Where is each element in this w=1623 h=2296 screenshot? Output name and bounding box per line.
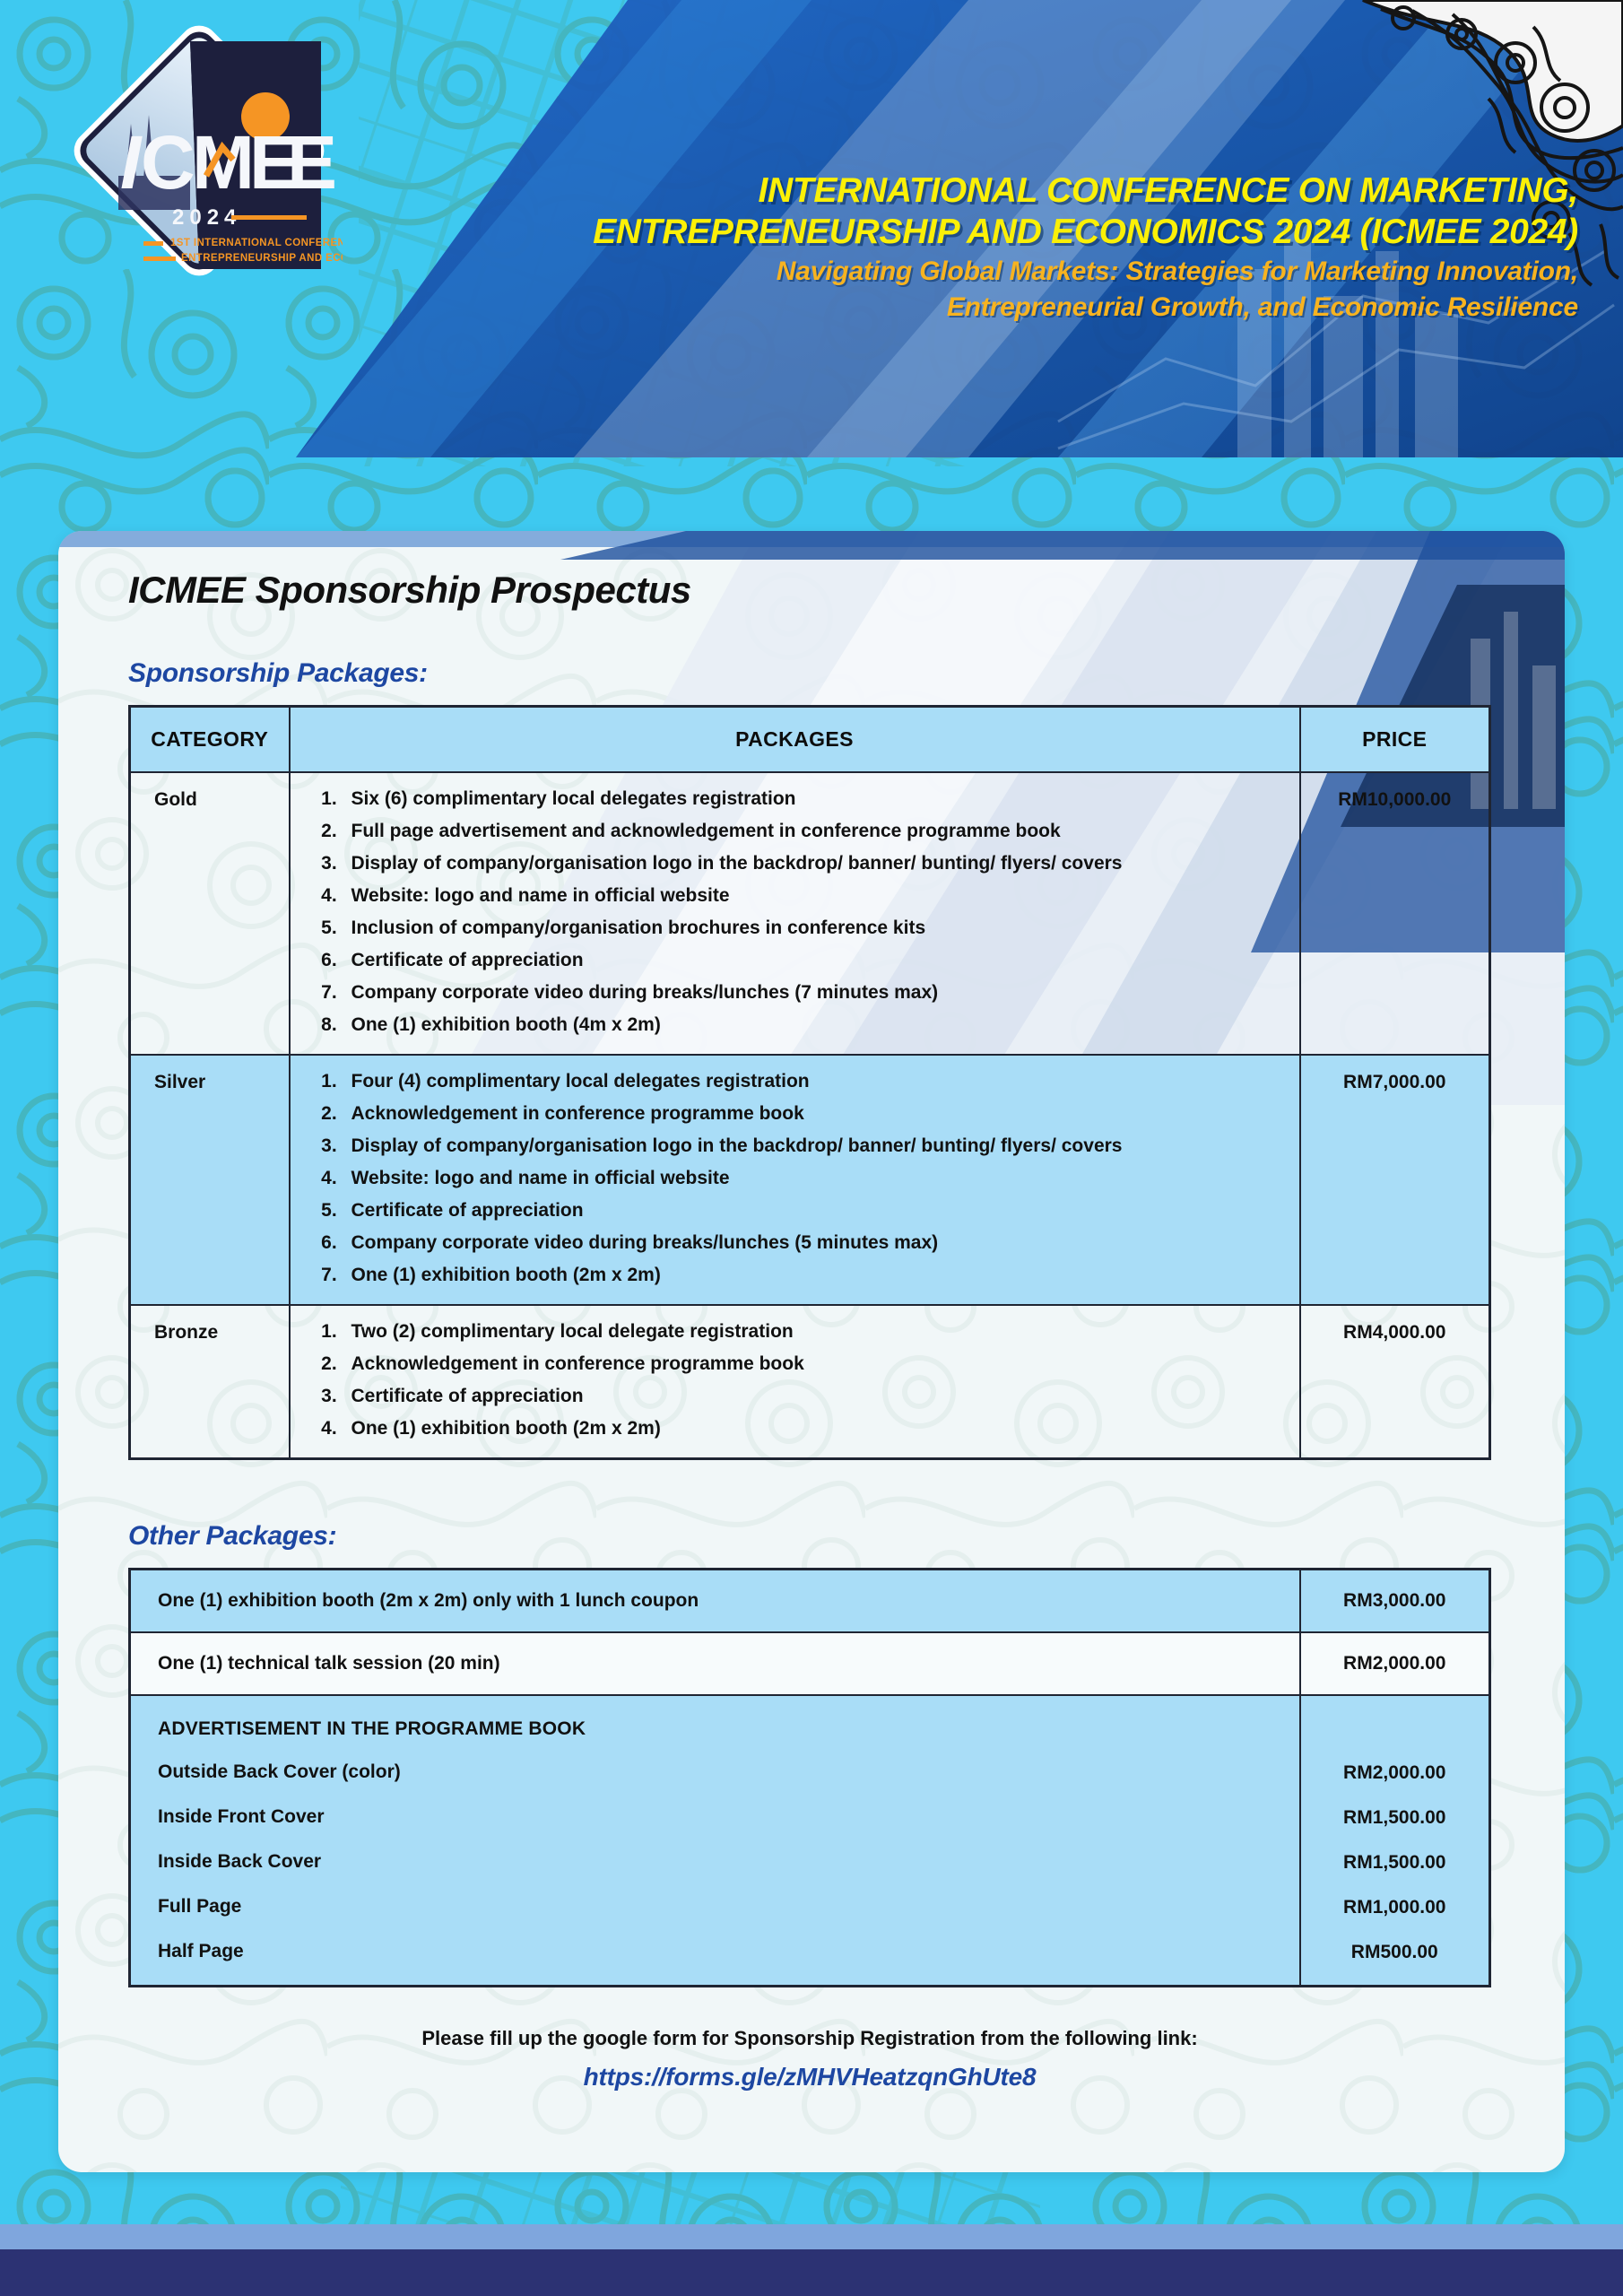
packages-silver: Four (4) complimentary local delegates r…	[290, 1055, 1300, 1305]
category-gold: Gold	[130, 772, 290, 1055]
price-silver: RM7,000.00	[1300, 1055, 1490, 1305]
advert-label-half-page: Half Page	[158, 1941, 1285, 1964]
registration-form-link[interactable]: https://forms.gle/zMHVHeatzqnGhUte8	[128, 2063, 1491, 2092]
advertisement-prices-cell: RM2,000.00 RM1,500.00 RM1,500.00 RM1,000…	[1300, 1695, 1490, 1987]
list-item: Four (4) complimentary local delegates r…	[343, 1072, 1285, 1091]
advertisement-labels-cell: ADVERTISEMENT IN THE PROGRAMME BOOK Outs…	[130, 1695, 1300, 1987]
category-silver: Silver	[130, 1055, 290, 1305]
table-row: One (1) technical talk session (20 min) …	[130, 1632, 1490, 1695]
advert-price-inside-front-cover: RM1,500.00	[1315, 1807, 1475, 1831]
list-item: Inclusion of company/organisation brochu…	[343, 918, 1285, 937]
other-label-technical-talk: One (1) technical talk session (20 min)	[130, 1632, 1300, 1695]
sponsorship-packages-label: Sponsorship Packages:	[128, 658, 1518, 689]
table-row: Silver Four (4) complimentary local dele…	[130, 1055, 1490, 1305]
packages-gold: Six (6) complimentary local delegates re…	[290, 772, 1300, 1055]
list-item: Company corporate video during breaks/lu…	[343, 983, 1285, 1002]
other-label-exhibition-booth: One (1) exhibition booth (2m x 2m) only …	[130, 1570, 1300, 1633]
list-item: One (1) exhibition booth (2m x 2m)	[343, 1419, 1285, 1438]
price-gold: RM10,000.00	[1300, 772, 1490, 1055]
packages-bronze: Two (2) complimentary local delegate reg…	[290, 1305, 1300, 1459]
column-header-packages: PACKAGES	[290, 707, 1300, 773]
list-item: Full page advertisement and acknowledgem…	[343, 822, 1285, 840]
list-item: Six (6) complimentary local delegates re…	[343, 789, 1285, 808]
price-bronze: RM4,000.00	[1300, 1305, 1490, 1459]
prospectus-card: ICMEE Sponsorship Prospectus Sponsorship…	[58, 531, 1565, 2172]
other-packages-table: One (1) exhibition booth (2m x 2m) only …	[128, 1568, 1491, 1987]
other-packages-label: Other Packages:	[128, 1521, 1518, 1552]
table-header-row: CATEGORY PACKAGES PRICE	[130, 707, 1490, 773]
svg-text:E: E	[287, 120, 337, 204]
svg-text:M: M	[192, 120, 255, 204]
advert-label-inside-front-cover: Inside Front Cover	[158, 1806, 1285, 1830]
sponsorship-packages-table: CATEGORY PACKAGES PRICE Gold Six (6) com…	[128, 705, 1491, 1460]
other-price-exhibition-booth: RM3,000.00	[1300, 1570, 1490, 1633]
advert-label-full-page: Full Page	[158, 1896, 1285, 1919]
footer-note-block: Please fill up the google form for Spons…	[128, 2027, 1491, 2092]
table-row: One (1) exhibition booth (2m x 2m) only …	[130, 1570, 1490, 1633]
list-item: One (1) exhibition booth (4m x 2m)	[343, 1015, 1285, 1034]
advert-price-outside-back-cover: RM2,000.00	[1315, 1762, 1475, 1786]
svg-text:I: I	[120, 120, 143, 204]
advert-price-full-page: RM1,000.00	[1315, 1897, 1475, 1920]
conference-subtitle-line2: Entrepreneurial Growth, and Economic Res…	[538, 291, 1578, 325]
table-row: Bronze Two (2) complimentary local deleg…	[130, 1305, 1490, 1459]
footer-bar-light	[0, 2224, 1623, 2249]
list-item: Certificate of appreciation	[343, 1387, 1285, 1405]
list-item: Acknowledgement in conference programme …	[343, 1104, 1285, 1123]
conference-title-line1: INTERNATIONAL CONFERENCE ON MARKETING,	[538, 170, 1578, 212]
table-row-advertisement: ADVERTISEMENT IN THE PROGRAMME BOOK Outs…	[130, 1695, 1490, 1987]
table-row: Gold Six (6) complimentary local delegat…	[130, 772, 1490, 1055]
list-item: Company corporate video during breaks/lu…	[343, 1233, 1285, 1252]
advert-price-half-page: RM500.00	[1315, 1942, 1475, 1965]
header-title-block: INTERNATIONAL CONFERENCE ON MARKETING, E…	[538, 170, 1578, 325]
registration-instruction: Please fill up the google form for Spons…	[128, 2027, 1491, 2050]
list-item: Website: logo and name in official websi…	[343, 886, 1285, 905]
advert-label-inside-back-cover: Inside Back Cover	[158, 1851, 1285, 1874]
logo-year: 2024	[172, 205, 241, 230]
list-item: Display of company/organisation logo in …	[343, 854, 1285, 873]
other-price-technical-talk: RM2,000.00	[1300, 1632, 1490, 1695]
list-item: Display of company/organisation logo in …	[343, 1136, 1285, 1155]
conference-header-banner: I C M E E 2024 1ST INTERNATIONAL CONFERE…	[0, 0, 1623, 457]
category-bronze: Bronze	[130, 1305, 290, 1459]
list-item: Certificate of appreciation	[343, 951, 1285, 970]
footer-bar-dark	[0, 2249, 1623, 2296]
list-item: Two (2) complimentary local delegate reg…	[343, 1322, 1285, 1341]
advert-price-inside-back-cover: RM1,500.00	[1315, 1852, 1475, 1875]
advertisement-heading: ADVERTISEMENT IN THE PROGRAMME BOOK	[158, 1718, 1285, 1740]
icmee-logo: I C M E E 2024 1ST INTERNATIONAL CONFERE…	[56, 16, 343, 294]
logo-tagline-line2: ENTREPRENEURSHIP AND ECONOMICS 2024	[181, 253, 343, 264]
conference-title-line2: ENTREPRENEURSHIP AND ECONOMICS 2024 (ICM…	[538, 212, 1578, 253]
list-item: Certificate of appreciation	[343, 1201, 1285, 1220]
conference-subtitle-line1: Navigating Global Markets: Strategies fo…	[538, 255, 1578, 289]
column-header-price: PRICE	[1300, 707, 1490, 773]
list-item: Website: logo and name in official websi…	[343, 1169, 1285, 1187]
svg-text:C: C	[141, 120, 195, 204]
column-header-category: CATEGORY	[130, 707, 290, 773]
list-item: One (1) exhibition booth (2m x 2m)	[343, 1265, 1285, 1284]
logo-tagline-line1: 1ST INTERNATIONAL CONFERENCE ON MARKETIN…	[170, 238, 343, 248]
list-item: Acknowledgement in conference programme …	[343, 1354, 1285, 1373]
advert-label-outside-back-cover: Outside Back Cover (color)	[158, 1761, 1285, 1785]
page-title: ICMEE Sponsorship Prospectus	[128, 569, 1518, 612]
